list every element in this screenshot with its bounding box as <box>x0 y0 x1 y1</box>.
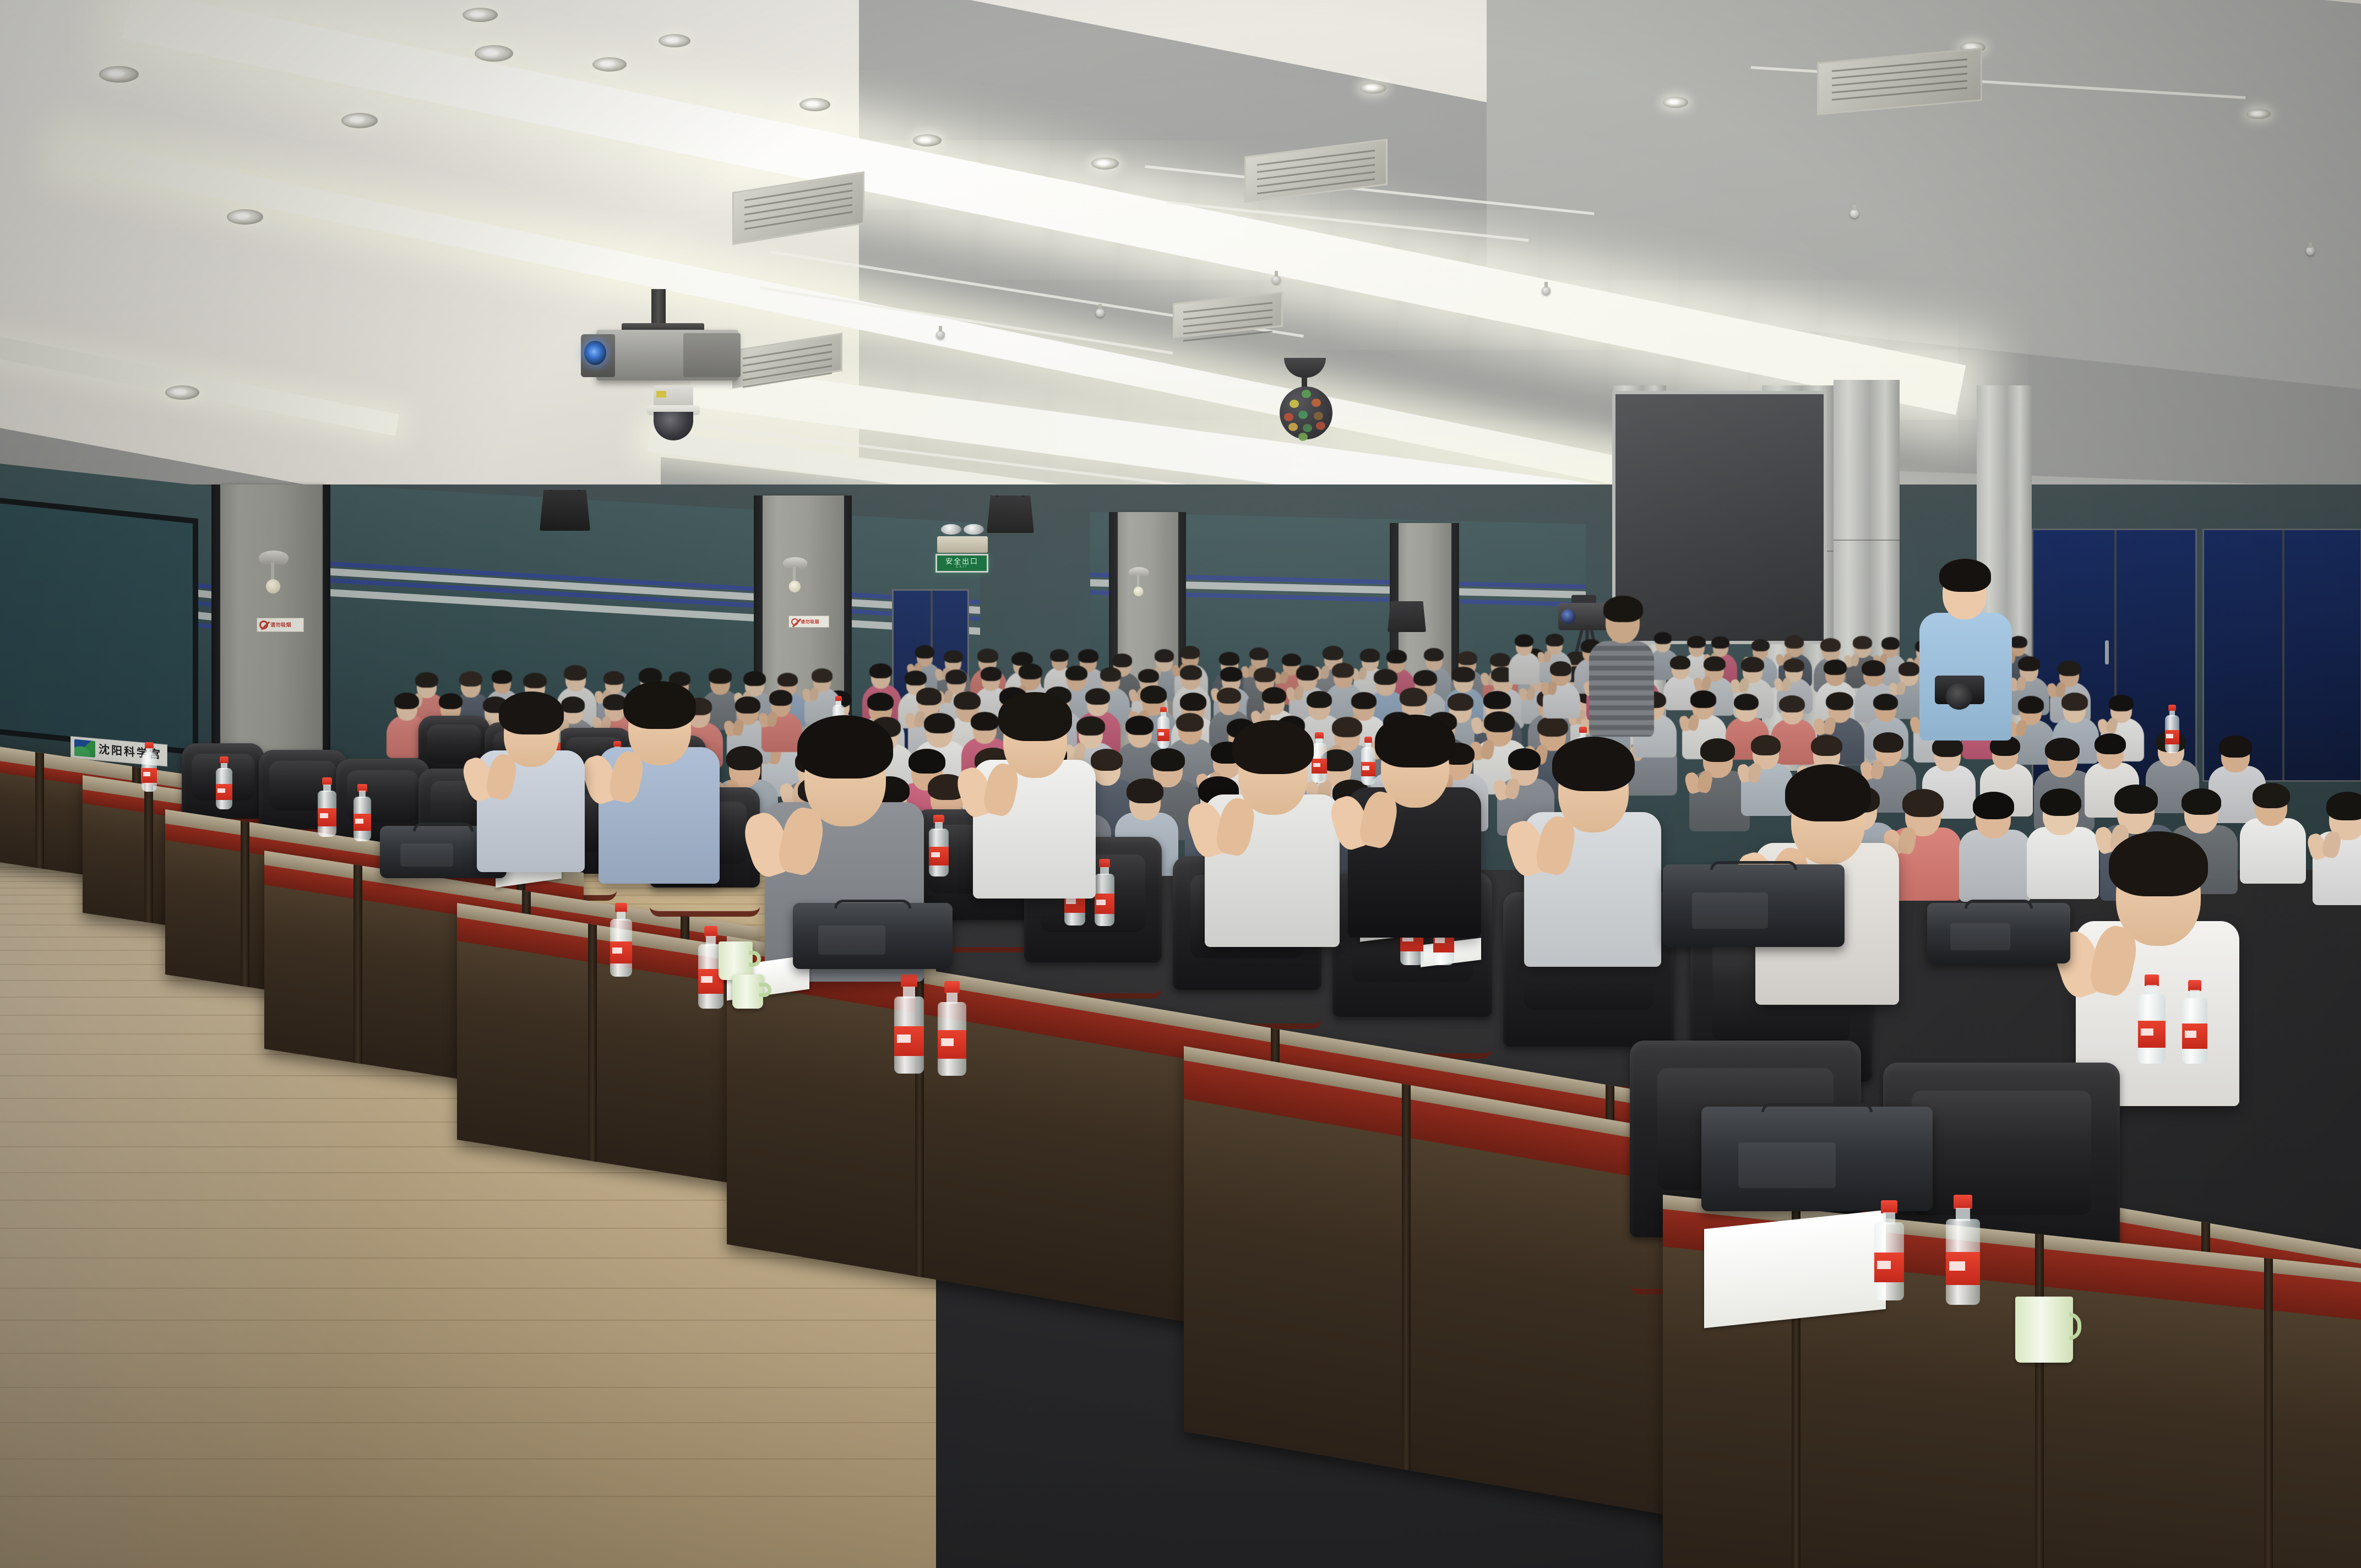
water-bottle[interactable] <box>2180 980 2209 1064</box>
ceiling-sprinkler <box>1272 275 1281 284</box>
audience-hair <box>1180 665 1202 680</box>
desk-leg <box>2264 1258 2273 1568</box>
audience-torso <box>1509 652 1541 684</box>
audience-hair <box>459 671 482 687</box>
bottle-cap <box>2188 980 2202 991</box>
audience-hair <box>916 688 942 705</box>
conference-hall-photo: 请勿吸烟 请勿吸烟 安全出口 EXIT 沈阳科学宫 <box>0 0 2361 1568</box>
door-handle[interactable] <box>2105 640 2109 665</box>
bottle-cap <box>704 926 718 937</box>
bottle-label <box>610 941 632 963</box>
audience-hair <box>977 649 998 663</box>
audience-hair <box>905 671 926 685</box>
bottle-label <box>2182 1023 2207 1049</box>
water-bottle[interactable] <box>140 742 158 792</box>
desk-leg <box>588 924 597 1162</box>
bottle-cap <box>901 974 917 987</box>
dome-camera-bubble <box>654 412 693 440</box>
foreground-man-blue-shirt <box>595 677 725 885</box>
audience-hair <box>2095 733 2126 754</box>
audience-hair <box>415 672 438 688</box>
audience-hair <box>1254 667 1276 682</box>
bottle-label <box>1874 1253 1905 1283</box>
emergency-lamp-right <box>964 524 984 535</box>
audience-hair <box>945 669 967 684</box>
bag-handle <box>1761 1103 1873 1112</box>
bottle-cap <box>1881 1200 1897 1213</box>
audience-hair <box>777 673 798 687</box>
disco-ball-gem <box>1288 423 1298 431</box>
bottle-cap <box>322 777 332 785</box>
audience-hair <box>1811 735 1842 756</box>
audience-hair <box>869 663 891 678</box>
door-split <box>2282 530 2284 780</box>
paper-sheet <box>1704 1210 1886 1329</box>
water-bottle[interactable] <box>1872 1200 1906 1300</box>
audience-hair <box>1180 693 1206 710</box>
audience-hair <box>2109 695 2134 712</box>
audience-hair <box>1853 636 1873 649</box>
audience-hair <box>2219 736 2251 758</box>
audience-hair <box>981 667 1002 681</box>
audience-hair <box>492 670 512 684</box>
audience-hair <box>1751 735 1781 755</box>
audience-hair <box>523 673 547 689</box>
laptop-bag[interactable] <box>1701 1107 1933 1211</box>
audience-member <box>2308 786 2361 914</box>
wall-speaker <box>540 490 590 531</box>
laptop-bag[interactable] <box>793 903 953 969</box>
desk-leg <box>35 752 44 869</box>
ceiling-downlight <box>463 8 498 22</box>
emergency-lamp-left <box>941 524 961 535</box>
audience-hair <box>1220 667 1242 682</box>
emergency-light <box>937 524 988 551</box>
audience-hair <box>743 671 765 686</box>
audience-hair <box>735 696 760 714</box>
cameraman-hair <box>1603 596 1643 622</box>
person-hair <box>1375 715 1455 767</box>
audience-hair <box>867 693 894 710</box>
audience-hair <box>1155 649 1174 662</box>
audience-hair <box>1484 711 1515 732</box>
wall-sconce-light <box>1129 567 1149 577</box>
audience-hair <box>1820 638 1841 652</box>
audience-hair <box>1670 656 1690 669</box>
ceiling-sprinkler <box>1096 308 1105 317</box>
audience-hair <box>1973 792 2014 819</box>
ceiling-downlight <box>475 45 513 62</box>
audience-hair <box>1019 663 1042 679</box>
audience-hair <box>564 665 587 680</box>
water-bottle[interactable] <box>352 784 372 841</box>
audience-hair <box>2253 783 2291 808</box>
desk-leg <box>353 864 362 1064</box>
drinking-cup[interactable] <box>732 974 763 1009</box>
disco-ball-gem <box>1298 433 1308 441</box>
wall-sconce-light <box>259 551 289 565</box>
bottle-label <box>1157 729 1170 742</box>
ceiling-downlight <box>1360 83 1386 94</box>
ceiling-downlight <box>1091 157 1119 170</box>
audience-torso <box>1959 830 2031 901</box>
ceiling-downlight <box>165 385 199 400</box>
audience-hair <box>1180 646 1200 659</box>
audience-hair <box>1151 748 1185 771</box>
water-bottle[interactable] <box>936 981 968 1076</box>
audience-hair <box>1138 669 1159 683</box>
dslr-lens-icon <box>1946 683 1972 710</box>
audience-hair <box>1751 639 1770 651</box>
disco-ball-gem <box>1284 413 1293 421</box>
projector-mount <box>651 289 666 328</box>
bottle-label <box>894 1026 924 1056</box>
bottle-label <box>929 847 948 865</box>
audience-hair <box>439 693 463 710</box>
bottle-label <box>2138 1021 2165 1048</box>
disco-ball-gem <box>1290 400 1299 408</box>
bottle-cap <box>933 815 944 823</box>
audience-hair <box>1374 669 1397 685</box>
bottle-label <box>216 784 232 800</box>
projector <box>581 322 746 394</box>
water-bottle[interactable] <box>928 815 950 876</box>
water-bottle[interactable] <box>1944 1195 1982 1305</box>
audience-member <box>2235 777 2310 891</box>
audience-torso <box>2240 818 2306 884</box>
foreground-woman-black-top <box>1343 710 1487 939</box>
audience-hair <box>1826 692 1853 710</box>
audience-hair <box>1127 778 1163 803</box>
bag-handle <box>834 900 911 908</box>
audience-hair <box>1307 691 1332 709</box>
desk-leg <box>241 821 249 987</box>
water-bottle[interactable] <box>215 756 233 809</box>
ceiling-downlight <box>659 34 690 47</box>
dome-camera-label <box>656 391 666 398</box>
audience-hair <box>2040 788 2081 816</box>
laptop-bag[interactable] <box>1663 864 1845 947</box>
audience-hair <box>2018 696 2043 713</box>
audience-hair <box>1176 713 1204 732</box>
exit-sign-cn: 安全出口 <box>945 558 978 565</box>
audience-hair <box>726 746 763 770</box>
photographer-hair <box>1939 559 1991 592</box>
audience-hair <box>1704 656 1726 671</box>
audience-hair <box>1249 647 1269 661</box>
standing-photographer <box>1916 553 2015 741</box>
audience-hair <box>1873 694 1898 710</box>
person-hair <box>1232 720 1314 774</box>
no-smoking-text: 请勿吸烟 <box>801 619 819 624</box>
foreground-man-light-shirt <box>474 688 589 873</box>
audience-hair <box>2182 788 2221 815</box>
foreground-woman-striped <box>969 688 1101 900</box>
person-hair <box>1785 764 1872 821</box>
audience-hair <box>1779 695 1805 713</box>
water-bottle[interactable] <box>892 974 926 1074</box>
ceiling-downlight <box>227 209 263 225</box>
audience-hair <box>1332 663 1354 678</box>
bag-pocket <box>1738 1142 1835 1189</box>
audience-hair <box>2018 656 2040 671</box>
foreground-woman-white-top <box>1200 716 1346 948</box>
audience-hair <box>1902 789 1944 817</box>
bottle-cap <box>1954 1195 1972 1209</box>
bag-pocket <box>1692 892 1769 929</box>
ceiling-downlight <box>341 113 378 128</box>
audience-hair <box>1862 660 1885 676</box>
desk-leg <box>1402 1084 1411 1471</box>
audience-hair <box>769 690 792 705</box>
ceiling-downlight <box>913 134 942 146</box>
person-hair <box>797 715 893 778</box>
disco-ball-gem <box>1314 412 1323 420</box>
person-hair <box>2109 831 2207 896</box>
audience-hair <box>1734 694 1759 710</box>
foreground-woman-glasses <box>1520 732 1667 968</box>
ceiling-downlight <box>799 98 830 111</box>
audience-hair <box>1700 738 1735 761</box>
projector-lens-icon <box>584 341 606 365</box>
disco-ball-gem <box>1302 390 1311 398</box>
person-hair <box>499 692 564 734</box>
audience-hair <box>1550 661 1571 676</box>
exit-sign-en: EXIT <box>956 565 967 569</box>
audience-hair <box>1065 666 1087 680</box>
cameraman <box>1586 594 1657 737</box>
exit-sign: 安全出口 EXIT <box>935 554 988 573</box>
desk-leg <box>2035 1234 2044 1568</box>
audience-hair <box>1873 732 1903 753</box>
projector-body-rear <box>683 333 741 377</box>
audience-hair <box>1078 649 1098 663</box>
bag-handle <box>1965 900 2033 908</box>
disco-ball-gem <box>1303 424 1312 432</box>
audience-hair <box>812 668 833 683</box>
ceiling-sprinkler <box>1542 286 1551 295</box>
emergency-light-box <box>937 536 988 553</box>
no-smoking-icon <box>259 620 268 629</box>
bottle-label <box>142 768 157 783</box>
audience-hair <box>1400 688 1427 706</box>
wall-speaker <box>1388 601 1426 632</box>
chair-armrest <box>650 888 760 917</box>
audience-hair <box>2061 693 2088 710</box>
audience-hair <box>1323 646 1344 660</box>
audience-hair <box>1296 665 1319 680</box>
disco-ball-gem <box>1312 399 1321 407</box>
cameraman-torso <box>1589 641 1654 737</box>
person-hair <box>998 692 1072 741</box>
audience-hair <box>1785 635 1804 649</box>
laptop-bag[interactable] <box>1927 903 2070 963</box>
ceiling-downlight <box>592 57 627 72</box>
drinking-cup[interactable] <box>2015 1297 2073 1363</box>
audience-hair <box>1515 634 1533 647</box>
audience-hair <box>1125 716 1154 734</box>
no-smoking-sign: 请勿吸烟 <box>257 618 304 632</box>
bottle-label <box>2165 730 2179 744</box>
sconce-bulb <box>266 579 280 594</box>
water-bottle[interactable] <box>2164 705 2180 753</box>
audience-hair <box>1824 660 1847 675</box>
audience-hair <box>1100 667 1121 682</box>
disco-ball-sphere <box>1280 386 1332 439</box>
audience-hair <box>1217 688 1241 704</box>
person-hair <box>1552 737 1635 791</box>
ceiling-downlight <box>2246 109 2271 119</box>
dome-camera-icon <box>647 385 700 440</box>
audience-hair <box>2326 792 2361 820</box>
no-smoking-icon <box>791 618 798 625</box>
audience-member <box>1541 658 1583 723</box>
audience-hair <box>915 645 934 658</box>
wall-speaker <box>987 496 1034 533</box>
bag-pocket <box>1950 923 2010 950</box>
bottle-label <box>938 1030 966 1059</box>
disco-ball-icon <box>1272 358 1338 451</box>
audience-hair <box>2058 661 2081 677</box>
disco-ball-canopy <box>1284 358 1326 378</box>
bag-pocket <box>818 925 885 955</box>
disco-ball-gem <box>1298 411 1308 419</box>
audience-hair <box>944 650 963 663</box>
ceiling-sprinkler <box>1850 209 1859 218</box>
water-bottle[interactable] <box>1156 707 1171 749</box>
bag-handle <box>413 823 474 831</box>
ceiling-downlight <box>1663 97 1688 108</box>
disco-ball-gem <box>1316 422 1325 430</box>
bag-pocket <box>400 843 454 867</box>
venue-logo-icon <box>74 739 95 758</box>
no-smoking-text: 请勿吸烟 <box>270 623 291 628</box>
bottle-label <box>1946 1252 1980 1285</box>
audience-hair <box>1711 636 1729 649</box>
audience-hair <box>1783 658 1804 672</box>
audience-hair <box>1351 692 1377 709</box>
ceiling-sprinkler <box>2306 247 2315 255</box>
ceiling-downlight <box>99 66 139 83</box>
water-bottle[interactable] <box>2136 974 2167 1064</box>
audience-hair <box>1741 657 1764 672</box>
bottle-label <box>353 814 371 831</box>
audience-hair <box>1424 648 1444 661</box>
audience-hair <box>1690 690 1716 707</box>
bottle-label <box>318 808 336 826</box>
sconce-bulb <box>1134 586 1144 596</box>
audience-hair <box>2045 738 2080 761</box>
bag-handle <box>1710 861 1797 870</box>
audience-hair <box>1546 634 1564 646</box>
projection-screen-left <box>0 496 198 755</box>
audience-hair <box>2114 785 2158 814</box>
sconce-bulb <box>789 581 801 592</box>
water-bottle[interactable] <box>608 903 634 977</box>
audience-hair <box>1140 685 1167 703</box>
desk-leg <box>144 784 153 923</box>
audience-hair <box>1386 650 1407 663</box>
bottle-cap <box>944 981 960 993</box>
person-hair <box>623 681 696 729</box>
audience-hair <box>1262 687 1286 704</box>
wall-sconce-light <box>783 557 807 569</box>
audience-hair <box>394 693 419 709</box>
video-camera-lens-icon <box>1561 609 1576 624</box>
ceiling-sprinkler <box>936 330 945 339</box>
bottle-cap <box>2145 974 2159 986</box>
no-smoking-sign: 请勿吸烟 <box>788 616 829 628</box>
audience-hair <box>1881 637 1900 649</box>
audience-hair <box>1452 667 1475 682</box>
bottle-cap <box>615 903 627 912</box>
water-bottle[interactable] <box>317 777 338 837</box>
